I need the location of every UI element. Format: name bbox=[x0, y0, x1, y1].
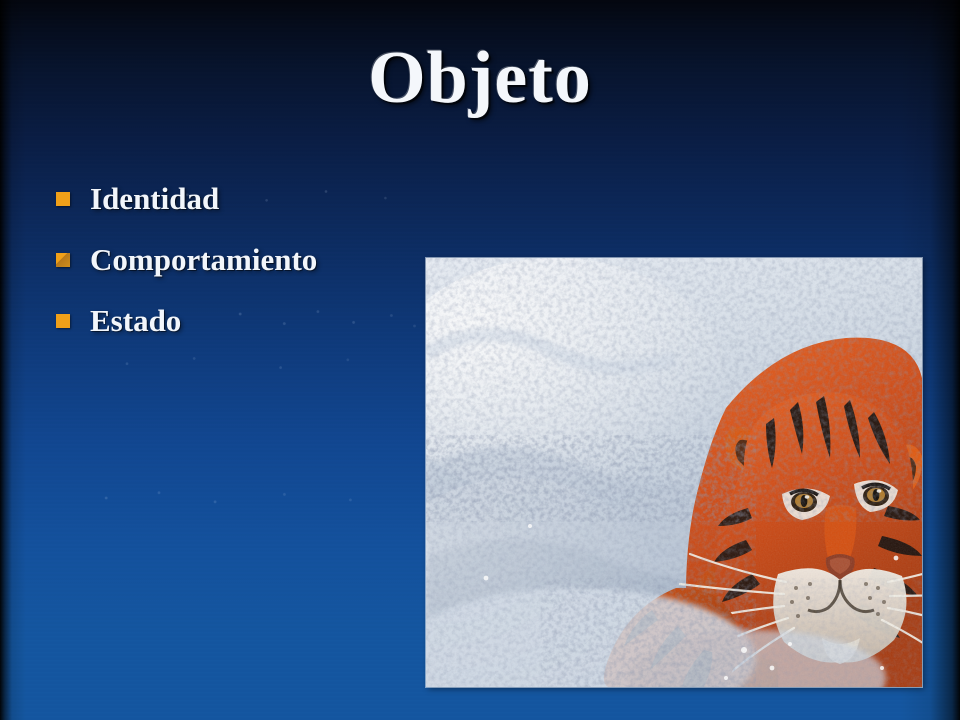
slide-title: Objeto bbox=[0, 36, 960, 120]
bullet-list: Identidad Comportamiento Estado bbox=[56, 178, 436, 361]
tiger-photo[interactable] bbox=[426, 258, 922, 687]
bullet-label: Comportamiento bbox=[90, 243, 317, 277]
square-bullet-icon bbox=[56, 192, 70, 206]
square-bullet-icon bbox=[56, 314, 70, 328]
bullet-item-estado[interactable]: Estado bbox=[56, 300, 436, 342]
square-bullet-icon bbox=[56, 253, 70, 267]
bullet-label: Identidad bbox=[90, 182, 219, 216]
bullet-item-comportamiento[interactable]: Comportamiento bbox=[56, 239, 436, 281]
tiger-photo-graphic bbox=[426, 258, 922, 687]
bullet-label: Estado bbox=[90, 304, 181, 338]
presentation-slide: Objeto Identidad Comportamiento Estado bbox=[0, 0, 960, 720]
compression-artifact bbox=[60, 486, 390, 510]
bullet-item-identidad[interactable]: Identidad bbox=[56, 178, 436, 220]
